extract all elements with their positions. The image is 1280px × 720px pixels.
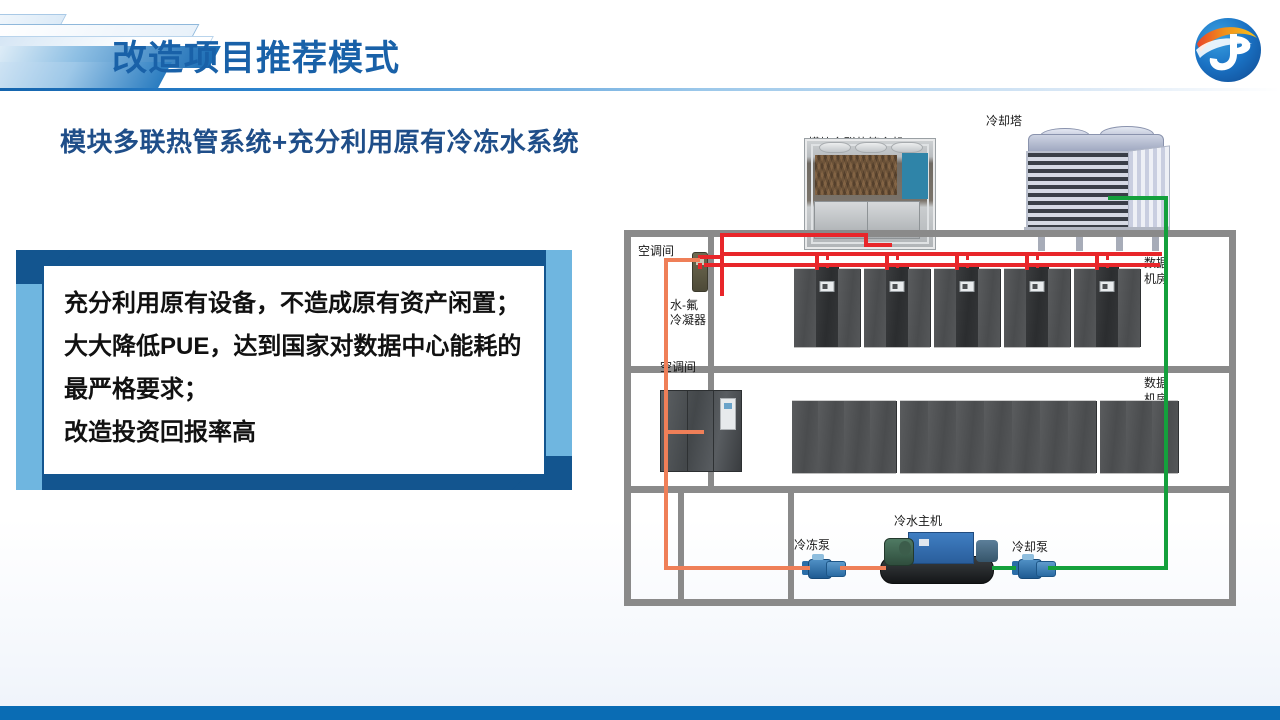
rack	[1100, 401, 1127, 473]
condenser-label-line-1: 水-氟	[670, 298, 706, 313]
chiller-fan-1	[819, 142, 851, 153]
rack	[1118, 269, 1141, 347]
pipe-drop-cooler-1	[815, 256, 819, 270]
rack-group-mid-1	[792, 400, 896, 474]
rack	[928, 401, 957, 473]
pipe-chilled-pump-to-chiller	[840, 566, 886, 570]
rack-group-top-5	[1074, 268, 1140, 348]
pipe-drop-return-2	[896, 256, 899, 270]
rack	[864, 269, 887, 347]
chilled-pump-label: 冷冻泵	[794, 536, 830, 553]
rack	[984, 401, 1013, 473]
floor-divider-1	[624, 366, 1236, 373]
partition-top-floor	[708, 230, 714, 373]
rack-group-top-3	[934, 268, 1000, 348]
in-row-cooler	[1026, 265, 1049, 347]
pipe-chilled-plant-run	[664, 566, 810, 570]
key-points-callout: 充分利用原有设备，不造成原有资产闲置； 大大降低PUE，达到国家对数据中心能耗的…	[16, 250, 572, 490]
chiller-coil-overlay	[815, 155, 897, 195]
building-wall-left	[624, 230, 631, 606]
rack-group-top-4	[1004, 268, 1070, 348]
rack	[1040, 401, 1069, 473]
pipe-drop-cooler-5	[1095, 256, 1099, 270]
callout-left-accent	[16, 276, 42, 490]
slide-canvas: 改造项目推荐模式 模块多联热管	[0, 0, 1280, 720]
water-chiller-unit	[876, 528, 998, 584]
cooler-display	[960, 281, 975, 292]
rack	[900, 401, 929, 473]
callout-line-4: 改造投资回报率高	[64, 411, 532, 454]
crac-seam-2	[713, 391, 714, 471]
in-row-cooler	[956, 265, 979, 347]
company-logo	[1190, 14, 1266, 86]
pipe-cooling-pump-to-riser	[1048, 566, 1168, 570]
pipe-drop-return-3	[966, 256, 969, 270]
cooler-display	[890, 281, 905, 292]
chiller-blue-casing	[908, 532, 974, 564]
slide-header: 改造项目推荐模式	[0, 0, 1280, 92]
rack	[1004, 269, 1027, 347]
rack-group-top-1	[794, 268, 860, 348]
pipe-chilled-to-crac	[664, 430, 704, 434]
cooling-pump-label: 冷却泵	[1012, 538, 1048, 555]
floor-divider-2	[624, 486, 1236, 493]
rack	[794, 269, 817, 347]
room-label-ac-top: 空调间	[638, 244, 674, 259]
pump-suction-cap	[1022, 554, 1034, 560]
in-row-cooler	[1096, 265, 1119, 347]
building-wall-top	[624, 230, 1236, 237]
pipe-refrigerant-header-low	[704, 263, 1160, 267]
partition-bottom-left	[678, 493, 684, 606]
rack	[870, 401, 897, 473]
rack	[1126, 401, 1153, 473]
pipe-drop-cooler-2	[885, 256, 889, 270]
chiller-condenser-end	[976, 540, 998, 562]
building-wall-bottom	[624, 599, 1236, 606]
rack	[844, 401, 871, 473]
cooler-display	[1030, 281, 1045, 292]
pipe-chilled-to-condenser	[664, 258, 700, 262]
callout-text-block: 充分利用原有设备，不造成原有资产闲置； 大大降低PUE，达到国家对数据中心能耗的…	[64, 282, 532, 454]
rack	[934, 269, 957, 347]
cooler-display	[1100, 281, 1115, 292]
in-row-cooler	[816, 265, 839, 347]
pipe-drop-return-1	[826, 256, 829, 270]
pipe-chiller-to-cooling-pump	[992, 566, 1016, 570]
building-wall-right	[1229, 230, 1236, 606]
callout-line-1: 充分利用原有设备，不造成原有资产闲置；	[64, 282, 532, 325]
pipe-cooling-tower-connection	[1108, 196, 1168, 200]
callout-line-3: 最严格要求；	[64, 368, 532, 411]
pipe-drop-cooler-4	[1025, 256, 1029, 270]
pump-suction-cap	[812, 554, 824, 560]
callout-line-2: 大大降低PUE，达到国家对数据中心能耗的	[64, 325, 532, 368]
rack	[1048, 269, 1071, 347]
pipe-refrigerant-condenser-top	[698, 255, 724, 259]
chiller-fan-3	[891, 142, 923, 153]
chiller-blue-panel	[902, 153, 928, 199]
compressor-motor-cap	[899, 541, 911, 555]
pipe-refrigerant-top-run	[720, 233, 868, 237]
chiller-compressor	[884, 538, 914, 566]
cooler-display	[820, 281, 835, 292]
rack	[1068, 401, 1097, 473]
rack	[978, 269, 1001, 347]
cooling-tower-label: 冷却塔	[986, 112, 1022, 129]
rack	[838, 269, 861, 347]
header-divider-rule	[0, 88, 1280, 91]
rack-group-top-2	[864, 268, 930, 348]
rack	[792, 401, 819, 473]
rack	[956, 401, 985, 473]
pipe-drop-return-4	[1036, 256, 1039, 270]
chilled-water-chiller-label: 冷水主机	[894, 512, 942, 529]
chiller-fan-2	[855, 142, 887, 153]
pipe-cooling-water-riser	[1164, 196, 1168, 570]
footer-accent-bar	[0, 706, 1280, 720]
rack	[818, 401, 845, 473]
pipe-refrigerant-to-condenser	[698, 263, 702, 269]
system-schematic-diagram: 模块多联热管主机 冷却塔	[608, 100, 1268, 620]
callout-right-accent	[546, 250, 572, 464]
pipe-chilled-water-riser	[664, 258, 668, 570]
tower-louvers	[1026, 151, 1134, 231]
rack	[908, 269, 931, 347]
page-title: 改造项目推荐模式	[112, 30, 400, 81]
section-subtitle: 模块多联热管系统+充分利用原有冷冻水系统	[60, 122, 579, 159]
condenser-label-line-2: 冷凝器	[670, 313, 706, 328]
pipe-drop-cooler-3	[955, 256, 959, 270]
condenser-label: 水-氟 冷凝器	[670, 298, 706, 328]
rack-group-mid-2	[900, 400, 1096, 474]
rack	[1074, 269, 1097, 347]
in-row-cooler	[886, 265, 909, 347]
rack	[1012, 401, 1041, 473]
pipe-drop-return-5	[1106, 256, 1109, 270]
crac-control-panel	[720, 398, 736, 430]
pipe-refrigerant-chiller-inlet	[864, 243, 892, 247]
